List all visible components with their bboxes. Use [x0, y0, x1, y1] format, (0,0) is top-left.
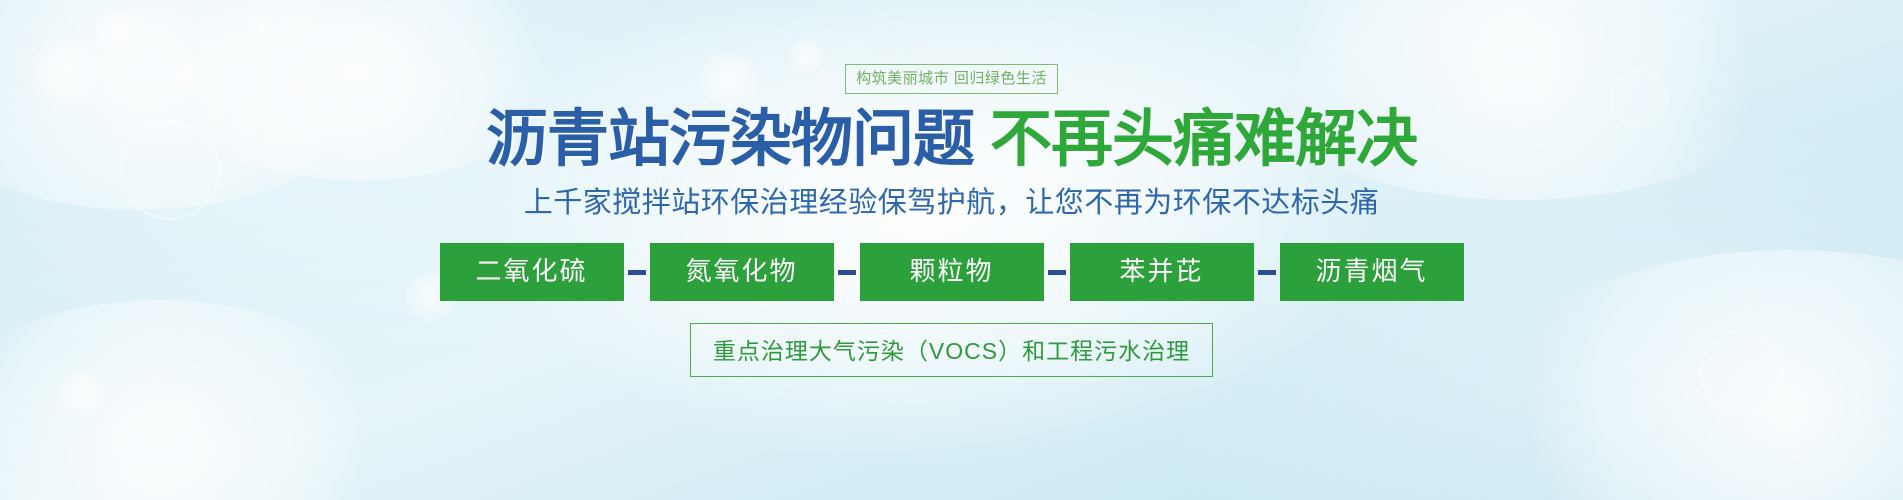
focus-treatment-note: 重点治理大气污染（VOCS）和工程污水治理: [690, 323, 1213, 377]
tagline-badge: 构筑美丽城市 回归绿色生活: [845, 64, 1058, 94]
chip-separator-icon: [624, 245, 650, 299]
banner-content: 构筑美丽城市 回归绿色生活 沥青站污染物问题不再头痛难解决 上千家搅拌站环保治理…: [0, 0, 1903, 500]
chip-particulates[interactable]: 颗粒物: [860, 243, 1044, 302]
chip-asphalt-fume[interactable]: 沥青烟气: [1280, 243, 1464, 302]
headline-blue-text: 沥青站污染物问题: [486, 102, 974, 175]
chip-separator-icon: [834, 245, 860, 299]
chip-sulfur-dioxide[interactable]: 二氧化硫: [440, 243, 624, 302]
pollutant-chip-row: 二氧化硫 氮氧化物 颗粒物 苯并芘 沥青烟气: [440, 243, 1464, 302]
chip-nitrogen-oxides[interactable]: 氮氧化物: [650, 243, 834, 302]
subtitle-text: 上千家搅拌站环保治理经验保驾护航，让您不再为环保不达标头痛: [524, 186, 1380, 221]
chip-separator-icon: [1254, 245, 1280, 299]
chip-separator-icon: [1044, 245, 1070, 299]
page-title: 沥青站污染物问题不再头痛难解决: [486, 108, 1417, 170]
chip-benzopyrene[interactable]: 苯并芘: [1070, 243, 1254, 302]
hero-banner: 构筑美丽城市 回归绿色生活 沥青站污染物问题不再头痛难解决 上千家搅拌站环保治理…: [0, 0, 1903, 500]
headline-green-text: 不再头痛难解决: [990, 102, 1417, 175]
